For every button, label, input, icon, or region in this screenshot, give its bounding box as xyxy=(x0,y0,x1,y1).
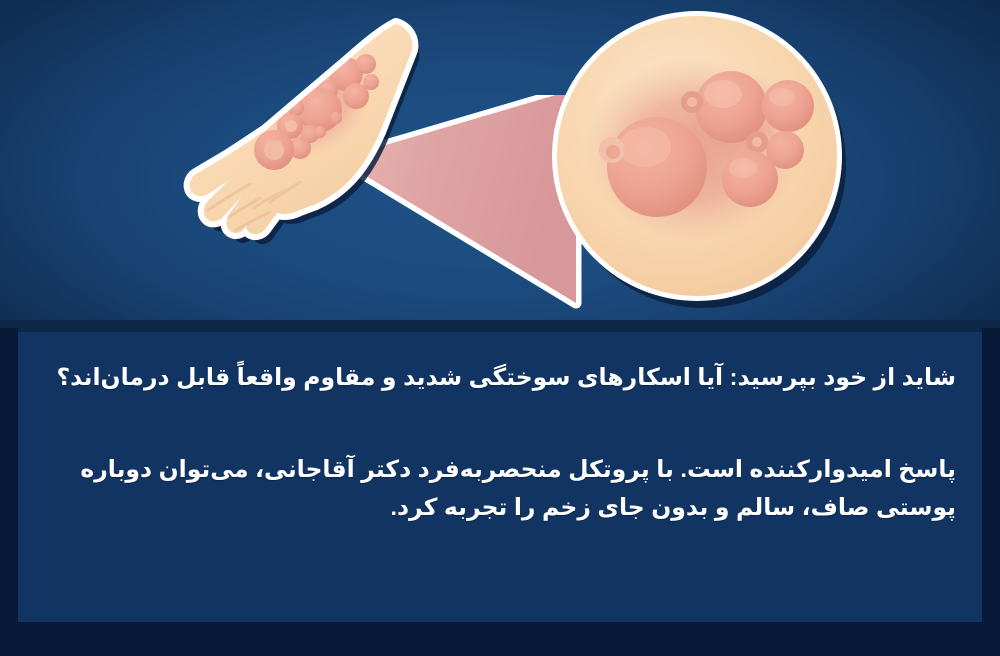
text-panel: شاید از خود بپرسید: آیا اسکارهای سوختگی … xyxy=(18,332,982,622)
blister-dot-upper-core xyxy=(687,97,697,107)
arm-blister-2 xyxy=(356,54,376,74)
arm-blister-12 xyxy=(314,126,326,138)
blister-ring-small-left-core xyxy=(606,145,620,159)
panel-left-margin xyxy=(0,328,18,622)
illustration-area xyxy=(0,0,1000,328)
panel-right-margin xyxy=(982,328,1000,622)
answer-paragraph: پاسخ امیدوارکننده است. با پروتکل منحصربه… xyxy=(44,450,956,526)
arm-blister-13 xyxy=(330,112,342,124)
arm-blister-8-core xyxy=(285,120,297,132)
question-paragraph: شاید از خود بپرسید: آیا اسکارهای سوختگی … xyxy=(44,358,956,396)
blister-dot-right-core xyxy=(752,137,762,147)
forearm-and-hand xyxy=(150,14,510,304)
blister-highlight-4 xyxy=(729,158,757,178)
blister-highlight xyxy=(619,127,671,167)
blister-highlight-2 xyxy=(704,80,742,108)
blister-highlight-3 xyxy=(769,88,795,106)
arm-blister-4 xyxy=(343,83,369,109)
infographic-canvas: شاید از خود بپرسید: آیا اسکارهای سوختگی … xyxy=(0,0,1000,656)
magnified-skin-circle xyxy=(545,2,850,317)
arm-blister-11-core xyxy=(264,140,284,160)
text-panel-copy: شاید از خود بپرسید: آیا اسکارهای سوختگی … xyxy=(44,358,956,526)
blister-right-upper xyxy=(762,80,814,132)
panel-divider-band xyxy=(0,320,1000,332)
panel-bottom-margin xyxy=(0,622,1000,656)
